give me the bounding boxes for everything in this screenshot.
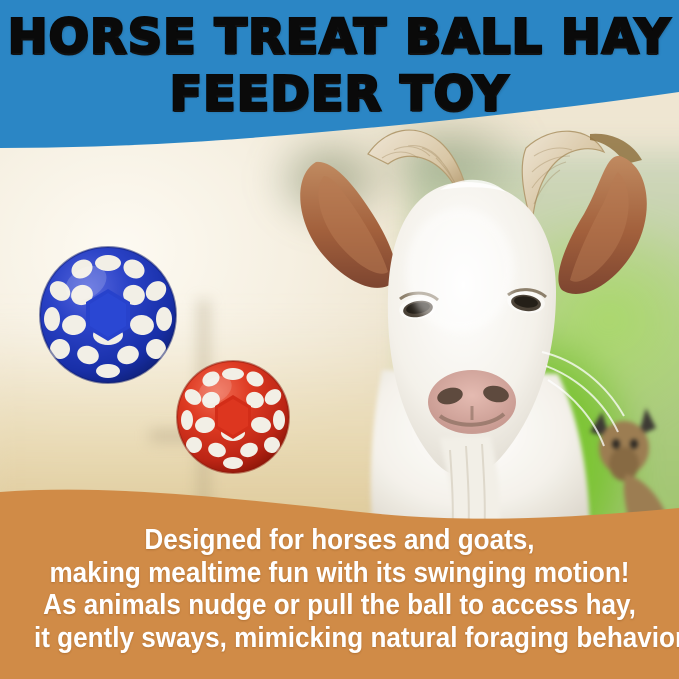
footer-band xyxy=(0,478,679,679)
hol-ee-roller-ball-red xyxy=(174,358,292,476)
header-band xyxy=(0,0,679,160)
goat-foreground xyxy=(290,120,679,540)
hol-ee-roller-ball-blue xyxy=(36,243,180,387)
product-marketing-poster: HORSE TREAT BALL HAY FEEDER TOY Designed… xyxy=(0,0,679,679)
